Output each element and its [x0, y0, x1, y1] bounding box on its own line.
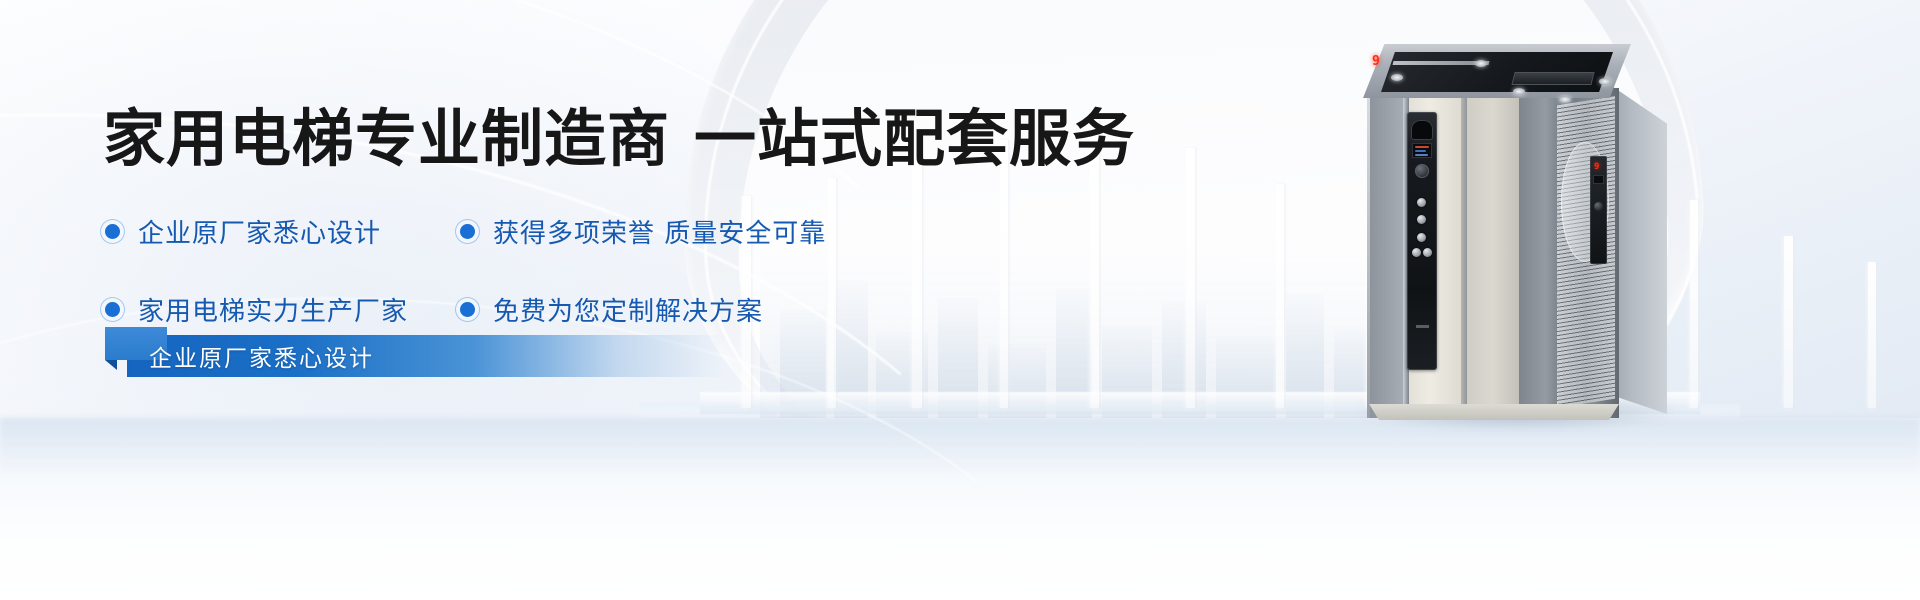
- feature-row-1: 企业原厂家悉心设计 获得多项荣誉 质量安全可靠: [105, 213, 1005, 250]
- floor-button-2: [1417, 215, 1426, 224]
- cabin-panel-5: [1467, 88, 1519, 418]
- feature-item-2-label: 获得多项荣誉 质量安全可靠: [493, 213, 826, 250]
- cabin-floor: [1369, 404, 1619, 420]
- ceiling-spotlight-3: [1513, 88, 1525, 95]
- page-title: 家用电梯专业制造商一站式配套服务: [103, 108, 1135, 170]
- cabin-panel-6: [1519, 88, 1563, 418]
- pylon-6: [1186, 148, 1195, 408]
- headline-part-1: 家用电梯专业制造商: [103, 102, 670, 175]
- ceiling-spotlight-1: [1475, 60, 1487, 67]
- ceiling-spotlight-2: [1391, 74, 1403, 81]
- pylon-11: [1868, 262, 1876, 408]
- control-panel-display: [1412, 143, 1432, 158]
- home-elevator-product-image: 9 9: [1363, 44, 1673, 422]
- feature-item-1: 企业原厂家悉心设计: [105, 213, 460, 250]
- main-floor-indicator: 9: [1372, 55, 1380, 68]
- cabin-panel-1: [1369, 88, 1403, 418]
- hero-banner: 9 9: [0, 0, 1920, 600]
- bullet-dot-icon: [105, 224, 120, 239]
- ceiling-vent: [1511, 72, 1594, 85]
- secondary-display: [1593, 175, 1604, 184]
- feature-row-2: 家用电梯实力生产厂家 免费为您定制解决方案: [105, 291, 1005, 328]
- feature-item-4: 免费为您定制解决方案: [460, 291, 763, 328]
- cabin-left-frame: [1367, 88, 1370, 418]
- floor-indicator-lcd: [1411, 120, 1433, 140]
- feature-item-4-label: 免费为您定制解决方案: [493, 291, 763, 328]
- feature-item-1-label: 企业原厂家悉心设计: [138, 213, 381, 250]
- door-open-button: [1412, 248, 1421, 257]
- ceiling-spotlight-5: [1559, 96, 1571, 103]
- headline-part-2: 一站式配套服务: [694, 102, 1135, 175]
- feature-item-2: 获得多项荣誉 质量安全可靠: [460, 213, 826, 250]
- ribbon-fold-icon: [105, 360, 117, 370]
- bullet-dot-icon: [105, 302, 120, 317]
- main-control-panel: [1407, 112, 1437, 370]
- floor-button-3: [1417, 233, 1426, 242]
- pylon-10: [1784, 236, 1793, 408]
- bullet-dot-icon: [460, 302, 475, 317]
- door-close-button: [1423, 248, 1432, 257]
- panel-brand-logo: [1416, 325, 1429, 328]
- banner-copy: 家用电梯专业制造商一站式配套服务 企业原厂家悉心设计 获得多项荣誉 质量安全可靠…: [0, 0, 1100, 600]
- pylon-9: [1690, 200, 1698, 408]
- feature-item-3-label: 家用电梯实力生产厂家: [138, 291, 408, 328]
- highlight-ribbon: 企业原厂家悉心设计: [105, 335, 725, 377]
- feature-list: 企业原厂家悉心设计 获得多项荣誉 质量安全可靠 家用电梯实力生产厂家 免费为您定…: [105, 213, 1005, 328]
- pylon-7: [1276, 184, 1284, 408]
- ribbon-label: 企业原厂家悉心设计: [149, 335, 374, 377]
- panel-speaker-button: [1415, 164, 1429, 178]
- secondary-round-button: [1594, 202, 1603, 211]
- ceiling-spotlight-4: [1599, 78, 1611, 85]
- secondary-floor-indicator: 9: [1594, 162, 1603, 172]
- floor-button-1: [1417, 198, 1426, 207]
- feature-item-3: 家用电梯实力生产厂家: [105, 291, 460, 328]
- bullet-dot-icon: [460, 224, 475, 239]
